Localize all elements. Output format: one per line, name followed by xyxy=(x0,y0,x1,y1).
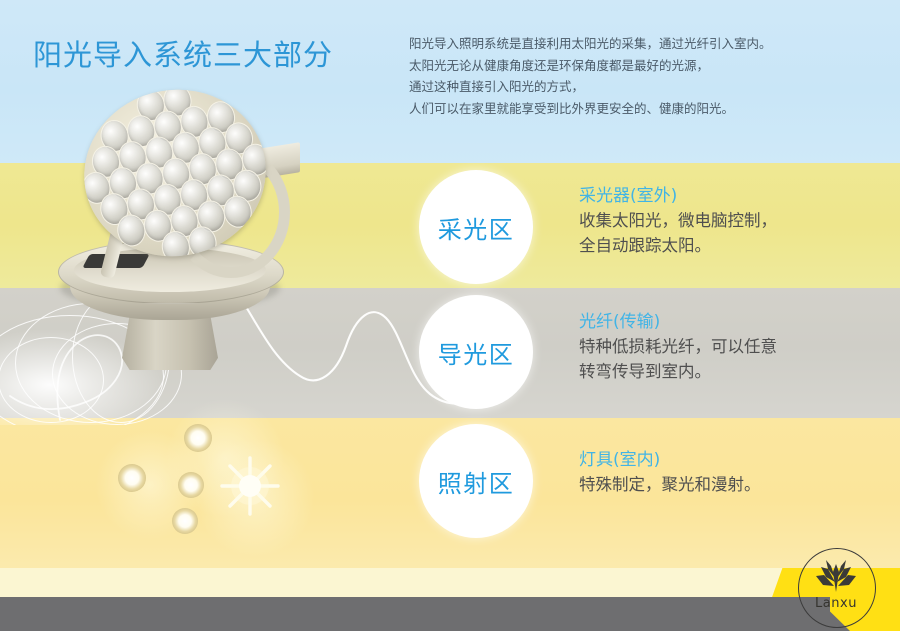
infographic-poster: 阳光导入系统三大部分 阳光导入照明系统是直接利用太阳光的采集，通过光纤引入室内。… xyxy=(0,0,900,631)
brand-logo: Lanxu xyxy=(798,548,876,628)
section-body: 收集太阳光，微电脑控制， 全自动跟踪太阳。 xyxy=(579,208,899,258)
light-spot xyxy=(184,424,212,452)
logo-wordmark: Lanxu xyxy=(798,596,874,611)
section-badge-emit: 照射区 xyxy=(419,424,533,538)
section-body-line: 转弯传导到室内。 xyxy=(579,359,899,384)
section-badge-label: 照射区 xyxy=(438,464,515,499)
section-copy-emit: 灯具(室内) 特殊制定，聚光和漫射。 xyxy=(579,448,899,497)
section-body: 特种低损耗光纤，可以任意 转弯传导到室内。 xyxy=(579,334,899,384)
solar-collector-device xyxy=(40,88,330,388)
page-title: 阳光导入系统三大部分 xyxy=(33,32,333,74)
section-badge-label: 采光区 xyxy=(438,210,515,245)
intro-line: 阳光导入照明系统是直接利用太阳光的采集，通过光纤引入室内。 xyxy=(409,33,879,55)
plant-fan-icon xyxy=(815,558,857,596)
section-body-line: 特殊制定，聚光和漫射。 xyxy=(579,472,899,497)
intro-line: 通过这种直接引入阳光的方式， xyxy=(409,76,879,98)
section-body-line: 特种低损耗光纤，可以任意 xyxy=(579,334,899,359)
light-spot xyxy=(178,472,204,498)
intro-line: 人们可以在家里就能享受到比外界更安全的、健康的阳光。 xyxy=(409,98,879,120)
intro-line: 太阳光无论从健康角度还是环保角度都是最好的光源， xyxy=(409,55,879,77)
section-copy-guide: 光纤(传输) 特种低损耗光纤，可以任意 转弯传导到室内。 xyxy=(579,310,899,384)
light-sparkle-icon xyxy=(216,452,284,520)
section-heading: 灯具(室内) xyxy=(579,448,899,472)
section-copy-collect: 采光器(室外) 收集太阳光，微电脑控制， 全自动跟踪太阳。 xyxy=(579,184,899,258)
light-spot xyxy=(118,464,146,492)
section-body-line: 收集太阳光，微电脑控制， xyxy=(579,208,899,233)
section-heading: 采光器(室外) xyxy=(579,184,899,208)
footer-gray-bar xyxy=(0,597,830,631)
section-badge-label: 导光区 xyxy=(438,335,515,370)
section-heading: 光纤(传输) xyxy=(579,310,899,334)
section-body-line: 全自动跟踪太阳。 xyxy=(579,233,899,258)
light-spot xyxy=(172,508,198,534)
section-badge-collect: 采光区 xyxy=(419,170,533,284)
section-badge-guide: 导光区 xyxy=(419,295,533,409)
section-body: 特殊制定，聚光和漫射。 xyxy=(579,472,899,497)
intro-paragraph: 阳光导入照明系统是直接利用太阳光的采集，通过光纤引入室内。 太阳光无论从健康角度… xyxy=(409,33,879,119)
